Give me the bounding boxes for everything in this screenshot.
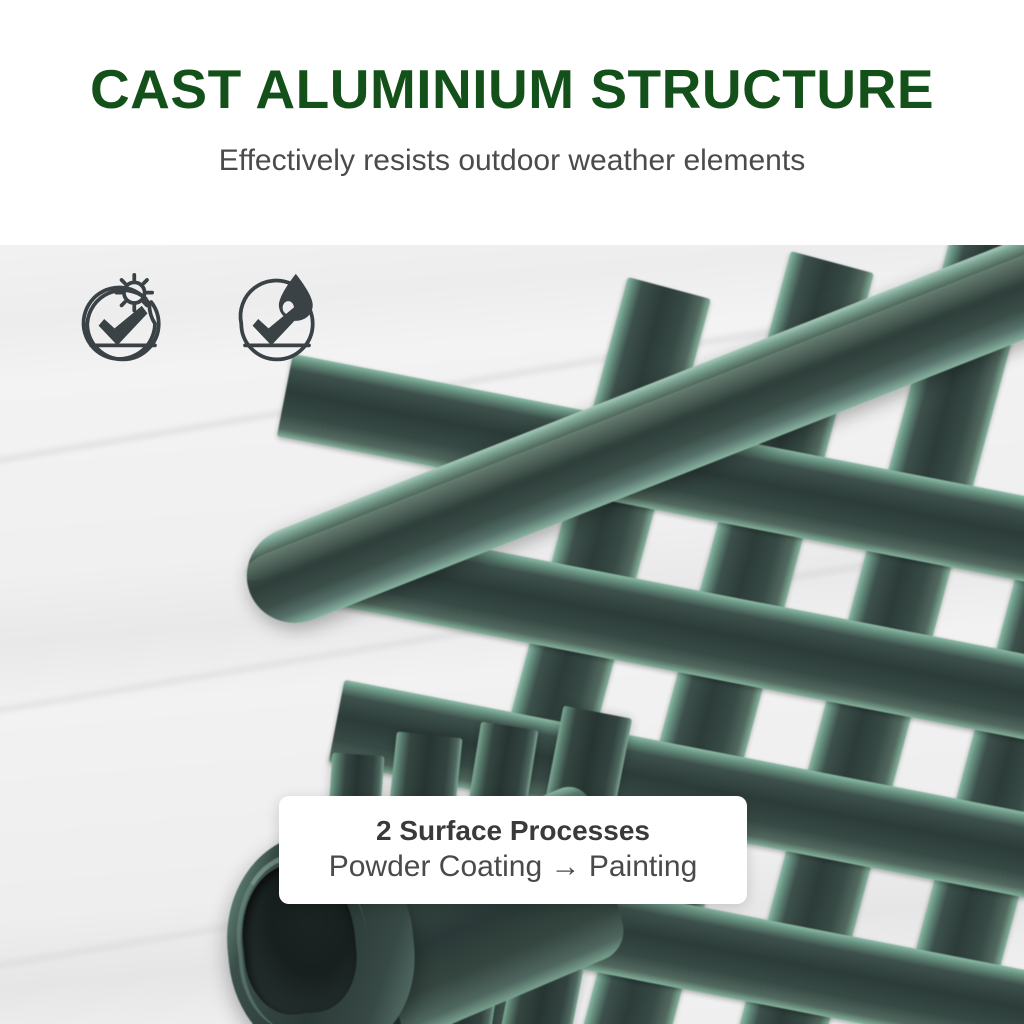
header-band: CAST ALUMINIUM STRUCTURE Effectively res… xyxy=(0,0,1024,245)
page-subtitle: Effectively resists outdoor weather elem… xyxy=(0,143,1024,179)
water-resistant-icon xyxy=(230,272,324,366)
feature-icon-row xyxy=(76,272,324,366)
caption-subtitle: Powder Coating → Painting xyxy=(329,849,698,885)
uv-resistant-icon xyxy=(76,272,170,366)
caption-title: 2 Surface Processes xyxy=(376,815,650,847)
page-title: CAST ALUMINIUM STRUCTURE xyxy=(0,62,1024,117)
caption-card: 2 Surface Processes Powder Coating → Pai… xyxy=(279,796,747,904)
product-feature-image: CAST ALUMINIUM STRUCTURE Effectively res… xyxy=(0,0,1024,1024)
